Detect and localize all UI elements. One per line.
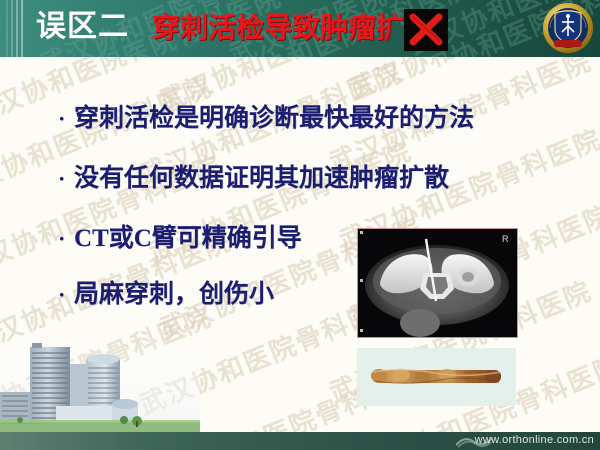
list-item: · 穿刺活检是明确诊断最快最好的方法: [58, 104, 358, 134]
footer-url[interactable]: www.orthonline.com.cn: [475, 434, 594, 446]
list-item: · 局麻穿刺，创伤小: [58, 280, 358, 310]
hospital-emblem-icon: [542, 2, 594, 54]
list-item: · CT或C臂可精确引导: [58, 224, 358, 254]
bullet-text: CT或C臂可精确引导: [74, 224, 302, 254]
bullet-marker: ·: [58, 104, 74, 134]
biopsy-specimen-image: [357, 348, 516, 406]
slide-canvas: 武汉协和医院骨科医院 武汉协和医院骨科医院 武汉协和医院骨科医院 武汉协和医院骨…: [0, 0, 600, 450]
red-x-icon: [404, 9, 448, 51]
slide-header: 武汉协和医院骨科医院 武汉协和医院骨科医院 武汉协和医院骨科医院 武汉协和医院骨…: [0, 0, 600, 57]
bullet-marker: ·: [58, 280, 74, 310]
list-item: · 没有任何数据证明其加速肿瘤扩散: [58, 164, 358, 194]
hospital-building-image: [0, 334, 200, 434]
bullet-text: 没有任何数据证明其加速肿瘤扩散: [74, 164, 449, 194]
ct-scan-image: R: [357, 228, 518, 338]
bullet-marker: ·: [58, 164, 74, 194]
page-title: 穿刺活检导致肿瘤扩散: [152, 10, 432, 46]
header-stripe-decoration: [6, 0, 28, 57]
bullet-marker: ·: [58, 224, 74, 254]
bullet-list: · 穿刺活检是明确诊断最快最好的方法 · 没有任何数据证明其加速肿瘤扩散 · C…: [58, 104, 358, 310]
bullet-text: 穿刺活检是明确诊断最快最好的方法: [74, 104, 474, 134]
bullet-text: 局麻穿刺，创伤小: [74, 280, 274, 310]
section-label: 误区二: [36, 8, 129, 46]
svg-text:R: R: [502, 234, 509, 244]
footer-bar: www.orthonline.com.cn: [0, 432, 600, 450]
